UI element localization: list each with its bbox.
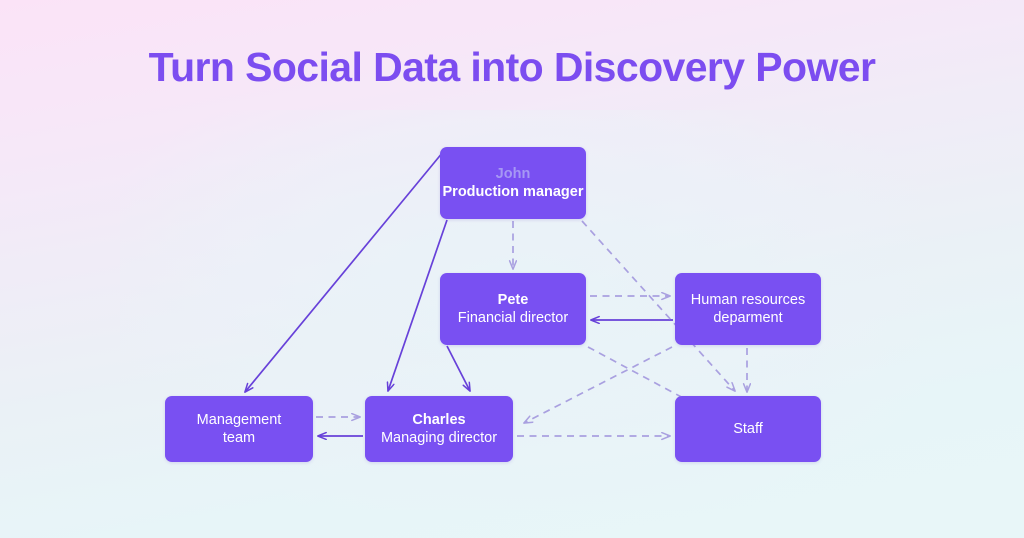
node-hr-line1: Human resources [691,291,805,309]
node-pete[interactable]: Pete Financial director [440,273,586,345]
node-pete-role: Financial director [458,309,568,327]
edge-john-to-management-team [245,152,443,392]
node-human-resources-department[interactable]: Human resources deparment [675,273,821,345]
node-hr-line2: deparment [713,309,782,327]
node-john-name: John [496,165,531,183]
edge-hr-to-charles [524,347,672,423]
edge-john-to-charles [388,220,447,391]
edge-pete-to-charles [447,346,470,391]
node-management-line1: Management [197,411,282,429]
node-pete-name: Pete [498,291,529,309]
node-john[interactable]: John Production manager [440,147,586,219]
node-staff[interactable]: Staff [675,396,821,462]
node-staff-name: Staff [733,420,763,438]
node-management-team[interactable]: Management team [165,396,313,462]
node-john-role: Production manager [443,183,584,201]
node-management-line2: team [223,429,255,447]
org-chart-diagram: John Production manager Pete Financial d… [0,0,1024,538]
node-charles[interactable]: Charles Managing director [365,396,513,462]
node-charles-name: Charles [412,411,465,429]
node-charles-role: Managing director [381,429,497,447]
